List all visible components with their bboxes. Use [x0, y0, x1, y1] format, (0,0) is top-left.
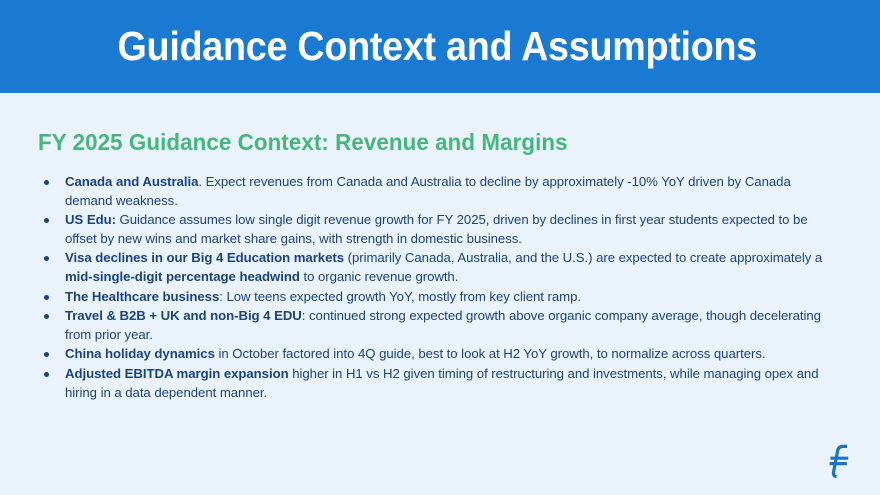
bullet-dot-icon	[44, 314, 49, 319]
slide-body: FY 2025 Guidance Context: Revenue and Ma…	[0, 93, 880, 495]
bullet-item-adjusted-ebitda: Adjusted EBITDA margin expansion higher …	[40, 365, 835, 402]
bullet-dot-icon	[44, 256, 49, 261]
bullet-dot-icon	[44, 372, 49, 377]
bullet-lead-in: US Edu:	[65, 212, 116, 227]
page-title: Guidance Context and Assumptions	[35, 20, 845, 72]
slide: Guidance Context and Assumptions FY 2025…	[0, 0, 880, 495]
bullet-item-canada-australia: Canada and Australia. Expect revenues fr…	[40, 173, 835, 210]
bullet-lead-in: Canada and Australia	[65, 174, 198, 189]
bullet-dot-icon	[44, 180, 49, 185]
flywire-f-logo	[820, 441, 862, 483]
bullet-item-travel-b2b: Travel & B2B + UK and non-Big 4 EDU: con…	[40, 307, 835, 344]
bullet-dot-icon	[44, 218, 49, 223]
bullet-item-visa-declines: Visa declines in our Big 4 Education mar…	[40, 249, 835, 286]
bullet-text: in October factored into 4Q guide, best …	[215, 346, 766, 361]
bullet-dot-icon	[44, 352, 49, 357]
slide-header-band: Guidance Context and Assumptions	[0, 0, 880, 93]
bullet-text: (primarily Canada, Australia, and the U.…	[344, 250, 822, 265]
bullet-item-china-holiday: China holiday dynamics in October factor…	[40, 345, 835, 364]
bullet-text: Guidance assumes low single digit revenu…	[65, 212, 808, 246]
bullet-lead-in: mid-single-digit percentage headwind	[65, 269, 300, 284]
bullet-item-healthcare: The Healthcare business: Low teens expec…	[40, 288, 835, 307]
bullet-lead-in: Travel & B2B + UK and non-Big 4 EDU	[65, 308, 302, 323]
guidance-bullet-list: Canada and Australia. Expect revenues fr…	[40, 173, 835, 403]
bullet-text: to organic revenue growth.	[300, 269, 458, 284]
section-heading: FY 2025 Guidance Context: Revenue and Ma…	[38, 129, 568, 156]
bullet-lead-in: Adjusted EBITDA margin expansion	[65, 366, 289, 381]
bullet-lead-in: China holiday dynamics	[65, 346, 215, 361]
bullet-item-us-edu: US Edu: Guidance assumes low single digi…	[40, 211, 835, 248]
bullet-dot-icon	[44, 295, 49, 300]
bullet-lead-in: Visa declines in our Big 4 Education mar…	[65, 250, 344, 265]
bullet-lead-in: The Healthcare business	[65, 289, 219, 304]
bullet-text: : Low teens expected growth YoY, mostly …	[219, 289, 581, 304]
